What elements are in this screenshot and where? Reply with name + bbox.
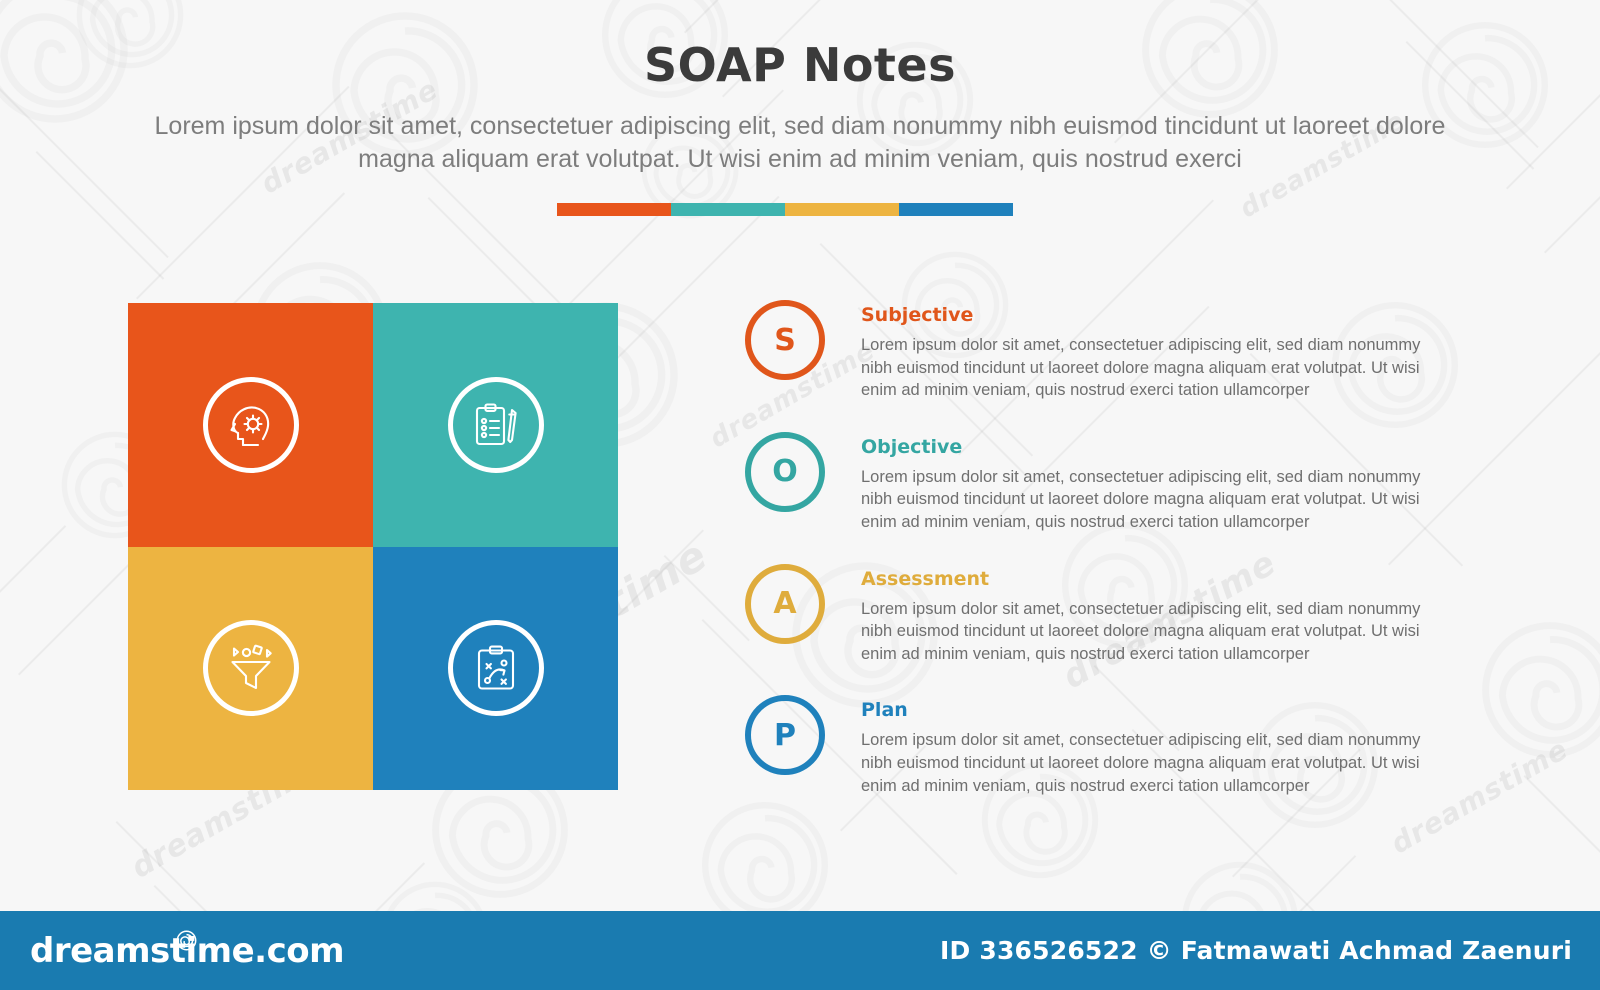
- letter-badge-p: P: [745, 695, 825, 775]
- funnel-shapes-icon-ring: [203, 620, 299, 716]
- watermark-stripe: [1524, 775, 1600, 861]
- letter-badge-s: S: [745, 300, 825, 380]
- soap-description: Lorem ipsum dolor sit amet, consectetuer…: [861, 598, 1431, 666]
- subjective-quadrant[interactable]: [128, 303, 373, 547]
- accent-segment-yellow: [785, 203, 899, 216]
- spiral-icon: [176, 920, 197, 960]
- soap-heading-objective: Objective: [861, 436, 1465, 458]
- header: SOAP Notes Lorem ipsum dolor sit amet, c…: [0, 0, 1600, 177]
- list-item[interactable]: S Subjective Lorem ipsum dolor sit amet,…: [745, 300, 1465, 402]
- clipboard-checklist-pen-icon: [470, 399, 522, 451]
- clipboard-checklist-pen-icon-ring: [448, 377, 544, 473]
- funnel-shapes-icon: [225, 642, 277, 694]
- footer-bar: dreamstime.com ID 336526522 © Fatmawati …: [0, 911, 1600, 990]
- soap-heading-plan: Plan: [861, 699, 1465, 721]
- accent-segment-orange: [557, 203, 671, 216]
- page-title: SOAP Notes: [0, 38, 1600, 92]
- accent-segment-teal: [671, 203, 785, 216]
- objective-quadrant[interactable]: [373, 303, 618, 547]
- clipboard-strategy-icon-ring: [448, 620, 544, 716]
- soap-text-block: Assessment Lorem ipsum dolor sit amet, c…: [861, 564, 1465, 666]
- page-subtitle: Lorem ipsum dolor sit amet, consectetuer…: [120, 110, 1480, 177]
- watermark-spiral-icon: [1480, 620, 1600, 765]
- soap-text-block: Plan Lorem ipsum dolor sit amet, consect…: [861, 695, 1465, 797]
- plan-quadrant[interactable]: [373, 547, 618, 791]
- quadrant-grid: [128, 303, 618, 790]
- head-gear-icon: [225, 399, 277, 451]
- soap-heading-assessment: Assessment: [861, 568, 1465, 590]
- list-item[interactable]: P Plan Lorem ipsum dolor sit amet, conse…: [745, 695, 1465, 797]
- soap-description: Lorem ipsum dolor sit amet, consectetuer…: [861, 466, 1431, 534]
- watermark-stripe: [664, 555, 750, 641]
- soap-list: S Subjective Lorem ipsum dolor sit amet,…: [745, 300, 1465, 797]
- list-item[interactable]: A Assessment Lorem ipsum dolor sit amet,…: [745, 564, 1465, 666]
- accent-bar: [557, 203, 1013, 216]
- soap-text-block: Subjective Lorem ipsum dolor sit amet, c…: [861, 300, 1465, 402]
- head-gear-icon-ring: [203, 377, 299, 473]
- watermark-stripe: [0, 525, 66, 611]
- list-item[interactable]: O Objective Lorem ipsum dolor sit amet, …: [745, 432, 1465, 534]
- soap-description: Lorem ipsum dolor sit amet, consectetuer…: [861, 334, 1431, 402]
- image-credit: ID 336526522 © Fatmawati Achmad Zaenuri: [940, 936, 1572, 965]
- infographic-canvas: SOAP Notes Lorem ipsum dolor sit amet, c…: [0, 0, 1600, 990]
- letter-badge-a: A: [745, 564, 825, 644]
- letter-badge-o: O: [745, 432, 825, 512]
- dreamstime-logo[interactable]: dreamstime.com: [30, 931, 344, 971]
- accent-segment-blue: [899, 203, 1013, 216]
- soap-text-block: Objective Lorem ipsum dolor sit amet, co…: [861, 432, 1465, 534]
- assessment-quadrant[interactable]: [128, 547, 373, 791]
- soap-description: Lorem ipsum dolor sit amet, consectetuer…: [861, 729, 1431, 797]
- clipboard-strategy-icon: [470, 642, 522, 694]
- soap-heading-subjective: Subjective: [861, 304, 1465, 326]
